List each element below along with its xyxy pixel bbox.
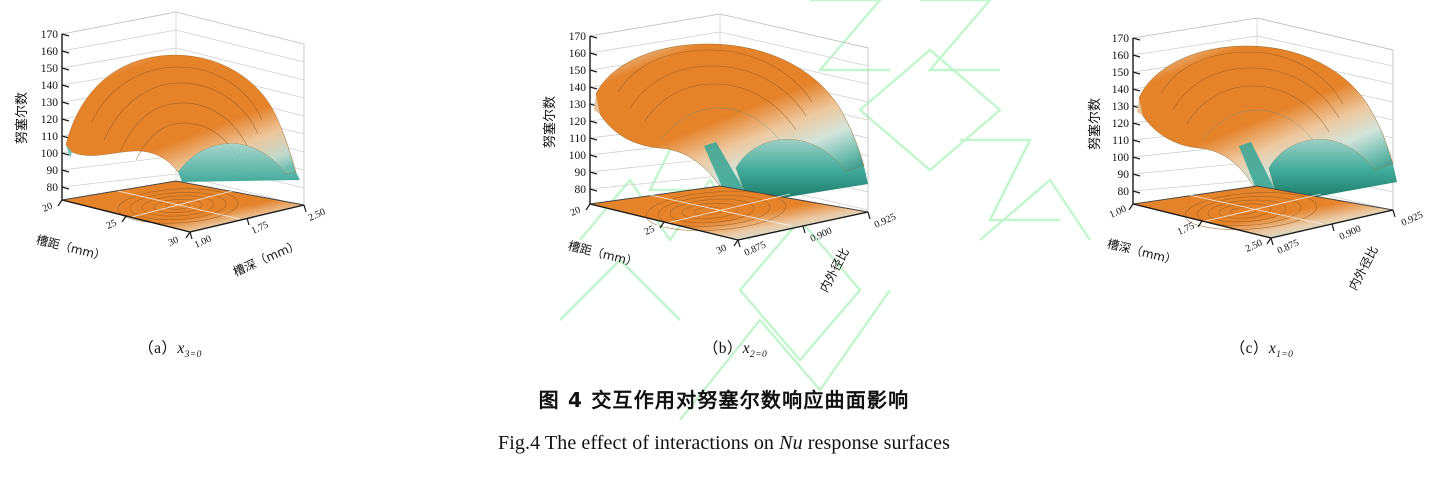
z-tick-label: 130: [569, 99, 587, 111]
z-tick-label: 170: [41, 29, 59, 41]
z-tick-label: 160: [1112, 50, 1130, 62]
caption-en-post: response surfaces: [803, 432, 950, 454]
subcaption-b: （b）x2=0: [520, 336, 950, 360]
z-tick-label: 110: [569, 133, 586, 145]
x-axis-label: 槽距（mm）: [567, 239, 640, 270]
x-tick-label: 20: [569, 205, 583, 219]
z-tick-label: 80: [1118, 186, 1130, 198]
surface-plot-a: 170 160 150 140 130 120 110 100 90 80 努塞…: [0, 0, 340, 320]
x-tick-label: 25: [105, 218, 119, 232]
z-tick-label: 80: [575, 184, 587, 196]
y-tick-label: 0.900: [809, 226, 834, 245]
z-tick-label: 150: [1112, 67, 1130, 79]
response-surface: [594, 44, 868, 206]
response-surface: [1137, 46, 1397, 206]
z-tick-label: 90: [1118, 169, 1130, 181]
z-axis-tick-marks: [1133, 38, 1140, 193]
z-tick-label: 80: [47, 182, 59, 194]
x-tick-label: 2.50: [1244, 238, 1264, 255]
x-axis-label: 槽深（mm）: [1106, 237, 1179, 268]
subcaption-a-sub: 3=0: [185, 350, 202, 360]
x-tick-label: 20: [41, 201, 55, 215]
surface-plot-b: 170 160 150 140 130 120 110 100 90 80 努塞…: [520, 0, 950, 320]
z-tick-label: 100: [1112, 152, 1130, 164]
y-tick-label: 0.925: [873, 212, 898, 231]
panel-b: 170 160 150 140 130 120 110 100 90 80 努塞…: [520, 0, 950, 320]
z-tick-label: 140: [1112, 84, 1130, 96]
surface-plot-c: 170 160 150 140 130 120 110 100 90 80 努塞…: [1075, 0, 1448, 320]
figure-caption-chinese: 图 4 交互作用对努塞尔数响应曲面影响: [0, 384, 1448, 413]
z-tick-label: 120: [569, 116, 587, 128]
y-tick-label: 0.875: [1276, 238, 1301, 257]
z-tick-label: 120: [41, 114, 59, 126]
y-tick-label: 0.925: [1400, 210, 1425, 229]
subcaption-a-prefix: （a）: [138, 340, 177, 357]
y-tick-label: 0.875: [743, 240, 768, 259]
panel-a: 170 160 150 140 130 120 110 100 90 80 努塞…: [0, 0, 340, 320]
z-tick-label: 130: [41, 97, 59, 109]
subcaption-a: （a）x3=0: [0, 336, 340, 360]
y-axis-label: 内外径比: [817, 246, 852, 295]
subcaption-c-prefix: （c）: [1230, 340, 1269, 357]
z-tick-label: 150: [41, 63, 59, 75]
z-tick-label: 140: [569, 82, 587, 94]
z-tick-label: 110: [41, 131, 58, 143]
subcaption-c-sub: 1=0: [1276, 350, 1293, 360]
x-tick-label: 1.00: [1108, 204, 1128, 221]
figure-caption-english: Fig.4 The effect of interactions on Nu r…: [0, 432, 1448, 455]
z-tick-label: 100: [569, 150, 587, 162]
z-axis-label: 努塞尔数: [1087, 98, 1103, 150]
z-axis-label: 努塞尔数: [14, 92, 30, 144]
z-tick-label: 170: [1112, 33, 1130, 45]
y-tick-label: 1.00: [193, 234, 213, 251]
subcaption-b-sub: 2=0: [750, 350, 767, 360]
subcaption-c: （c）x1=0: [1075, 336, 1448, 360]
y-tick-label: 0.900: [1338, 224, 1363, 243]
z-tick-label: 140: [41, 80, 59, 92]
z-axis-tick-marks: [62, 34, 69, 189]
z-tick-label: 170: [569, 31, 587, 43]
response-surface: [66, 55, 300, 182]
y-axis-label: 内外径比: [1346, 244, 1381, 293]
figure-container: 170 160 150 140 130 120 110 100 90 80 努塞…: [0, 0, 1448, 479]
caption-en-pre: Fig.4 The effect of interactions on: [498, 432, 779, 454]
subcaption-a-var: x: [177, 340, 184, 357]
z-tick-label: 110: [1112, 135, 1129, 147]
z-axis-tick-marks: [590, 36, 597, 191]
z-tick-label: 150: [569, 65, 587, 77]
subcaption-b-prefix: （b）: [703, 340, 743, 357]
y-axis-label: 槽深（mm）: [231, 237, 302, 279]
x-axis-label: 槽距（mm）: [35, 233, 108, 264]
subcaption-b-var: x: [743, 340, 750, 357]
z-tick-label: 90: [575, 167, 587, 179]
z-tick-label: 90: [47, 165, 59, 177]
x-tick-label: 30: [167, 235, 181, 249]
z-tick-label: 160: [569, 48, 587, 60]
y-tick-label: 1.75: [250, 220, 270, 237]
caption-en-symbol: Nu: [779, 432, 803, 454]
x-tick-label: 30: [715, 243, 729, 257]
z-axis-label: 努塞尔数: [542, 96, 558, 148]
z-tick-label: 160: [41, 46, 59, 58]
y-tick-label: 2.50: [307, 207, 327, 224]
z-tick-label: 130: [1112, 101, 1130, 113]
z-tick-label: 100: [41, 148, 59, 160]
panel-c: 170 160 150 140 130 120 110 100 90 80 努塞…: [1075, 0, 1448, 320]
z-tick-label: 120: [1112, 118, 1130, 130]
